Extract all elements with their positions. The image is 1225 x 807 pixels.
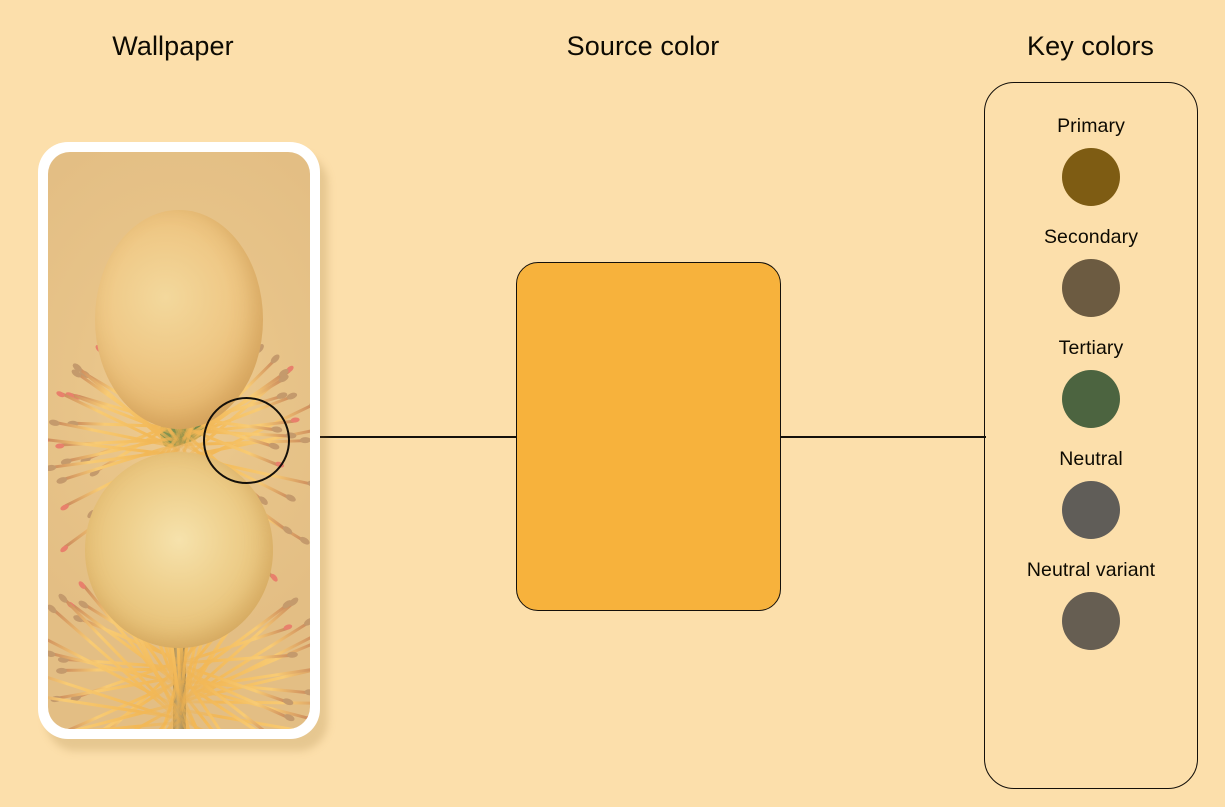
key-color-swatch[interactable]: [1062, 259, 1120, 317]
key-colors-section-heading: Key colors: [975, 31, 1206, 62]
key-color-item[interactable]: Neutral variant: [1027, 559, 1155, 650]
key-color-swatch[interactable]: [1062, 370, 1120, 428]
key-color-swatch[interactable]: [1062, 481, 1120, 539]
key-color-label: Neutral: [1059, 448, 1123, 471]
source-color-section-heading: Source color: [430, 31, 856, 62]
key-color-swatch[interactable]: [1062, 148, 1120, 206]
key-color-label: Tertiary: [1059, 337, 1124, 360]
key-color-item[interactable]: Primary: [1057, 115, 1125, 206]
key-color-swatch[interactable]: [1062, 592, 1120, 650]
wallpaper-section-heading: Wallpaper: [0, 31, 346, 62]
key-color-item[interactable]: Neutral: [1059, 448, 1123, 539]
wallpaper-panel: [38, 142, 320, 739]
source-to-key-colors-connector-line: [779, 436, 986, 438]
magnifier-circle-icon: [203, 397, 290, 484]
key-color-label: Secondary: [1044, 226, 1138, 249]
key-color-item[interactable]: Secondary: [1044, 226, 1138, 317]
key-color-label: Neutral variant: [1027, 559, 1155, 582]
key-color-item[interactable]: Tertiary: [1059, 337, 1124, 428]
key-color-label: Primary: [1057, 115, 1125, 138]
key-colors-panel: PrimarySecondaryTertiaryNeutralNeutral v…: [984, 82, 1198, 789]
source-color-swatch[interactable]: [516, 262, 781, 611]
